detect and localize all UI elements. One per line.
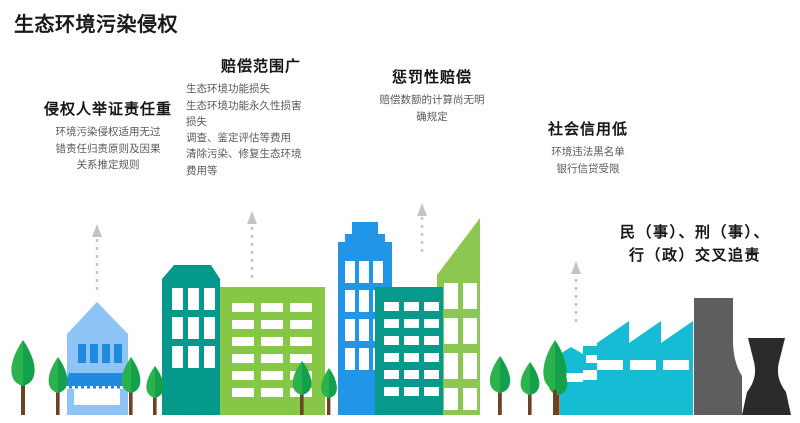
infographic-canvas: 生态环境污染侵权 侵权人举证责任重 环境污染侵权适用无过 错责任归责原则及因果 … xyxy=(0,0,800,423)
green-slant-building xyxy=(437,218,480,415)
city-skyline-illustration xyxy=(0,0,800,423)
green-apartment-building xyxy=(220,287,325,415)
arrow-up-icon xyxy=(247,211,257,278)
tree xyxy=(521,362,540,415)
light-blue-shop-building xyxy=(64,302,131,415)
teal-apartment-building xyxy=(162,265,220,415)
teal-office-building xyxy=(375,287,443,415)
tree xyxy=(49,357,68,415)
arrow-up-icon xyxy=(417,203,427,252)
black-cooling-tower xyxy=(742,338,791,415)
cyan-factory xyxy=(583,321,693,415)
tree xyxy=(146,366,163,415)
arrow-up-icon xyxy=(92,224,102,290)
tree xyxy=(490,356,510,415)
arrow-up-icon xyxy=(571,261,581,322)
tree xyxy=(11,340,34,415)
gray-smokestack xyxy=(694,298,742,415)
